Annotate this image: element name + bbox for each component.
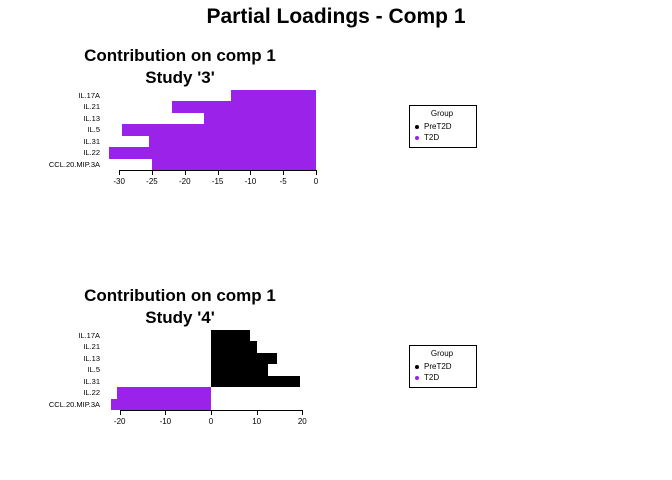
axis-tick-label: 10 xyxy=(252,417,261,426)
bar-row xyxy=(106,124,316,135)
axis-tick xyxy=(119,170,120,175)
legend-dot-icon xyxy=(415,136,419,140)
bar xyxy=(172,101,316,112)
axis-tick xyxy=(302,410,303,415)
axis-tick xyxy=(152,170,153,175)
bar-row xyxy=(106,136,316,147)
plot-2-area: IL.17AIL.21IL.13IL.5IL.31IL.22CCL.20.MIP… xyxy=(0,330,420,470)
plot-2-legend: Group PreT2DT2D xyxy=(409,345,477,388)
bar-row xyxy=(106,90,316,101)
legend-item-label: T2D xyxy=(424,132,439,143)
bar xyxy=(211,364,268,375)
bar-row xyxy=(106,376,316,387)
bar xyxy=(109,147,316,158)
legend-title: Group xyxy=(415,349,469,358)
axis-tick xyxy=(211,410,212,415)
plot-2-title-block: Contribution on comp 1 Study '4' xyxy=(0,285,390,329)
axis-tick-label: -10 xyxy=(160,417,172,426)
axis-tick-label: -20 xyxy=(114,417,126,426)
bar-row xyxy=(106,101,316,112)
axis-tick-label: -25 xyxy=(146,177,158,186)
legend-dot-icon xyxy=(415,365,419,369)
axis-tick xyxy=(316,170,317,175)
plot-1-category-labels: IL.17AIL.21IL.13IL.5IL.31IL.22CCL.20.MIP… xyxy=(0,90,100,170)
axis-tick-label: 0 xyxy=(209,417,213,426)
bar xyxy=(117,387,211,398)
bar-row xyxy=(106,399,316,410)
category-label: IL.17A xyxy=(0,330,100,341)
legend-item-label: PreT2D xyxy=(424,361,452,372)
axis-tick xyxy=(218,170,219,175)
plot-1-subtitle: Study '3' xyxy=(0,67,390,89)
axis-tick xyxy=(250,170,251,175)
axis-tick-label: -10 xyxy=(245,177,257,186)
category-label: CCL.20.MIP.3A xyxy=(0,399,100,410)
bar-row xyxy=(106,364,316,375)
plot-1-title: Contribution on comp 1 xyxy=(84,46,276,65)
bar xyxy=(204,113,316,124)
bar xyxy=(211,376,300,387)
plot-2-title: Contribution on comp 1 xyxy=(84,286,276,305)
category-label: IL.31 xyxy=(0,136,100,147)
plot-2-category-labels: IL.17AIL.21IL.13IL.5IL.31IL.22CCL.20.MIP… xyxy=(0,330,100,410)
category-label: CCL.20.MIP.3A xyxy=(0,159,100,170)
legend-items: PreT2DT2D xyxy=(415,361,469,383)
plot-2-bars xyxy=(106,330,316,410)
category-label: IL.13 xyxy=(0,353,100,364)
axis-tick xyxy=(120,410,121,415)
legend-item-label: T2D xyxy=(424,372,439,383)
category-label: IL.5 xyxy=(0,124,100,135)
bar-row xyxy=(106,341,316,352)
category-label: IL.31 xyxy=(0,376,100,387)
axis-tick-label: -15 xyxy=(212,177,224,186)
bar xyxy=(149,136,316,147)
bar-row xyxy=(106,113,316,124)
category-label: IL.22 xyxy=(0,147,100,158)
legend-dot-icon xyxy=(415,125,419,129)
legend-item[interactable]: T2D xyxy=(415,132,469,143)
plot-1-title-block: Contribution on comp 1 Study '3' xyxy=(0,45,390,89)
bar xyxy=(211,341,257,352)
bar-row xyxy=(106,159,316,170)
bar-row xyxy=(106,330,316,341)
bar xyxy=(122,124,316,135)
bar-row xyxy=(106,387,316,398)
axis-tick xyxy=(165,410,166,415)
axis-tick xyxy=(185,170,186,175)
bar xyxy=(111,399,211,410)
axis-tick xyxy=(257,410,258,415)
axis-tick-label: 20 xyxy=(298,417,307,426)
bar xyxy=(211,353,277,364)
bar-row xyxy=(106,353,316,364)
legend-dot-icon xyxy=(415,376,419,380)
legend-item-label: PreT2D xyxy=(424,121,452,132)
page-title: Partial Loadings - Comp 1 xyxy=(0,5,672,29)
legend-item[interactable]: PreT2D xyxy=(415,121,469,132)
category-label: IL.21 xyxy=(0,341,100,352)
plot-1-bars xyxy=(106,90,316,170)
bar xyxy=(211,330,250,341)
legend-items: PreT2DT2D xyxy=(415,121,469,143)
category-label: IL.21 xyxy=(0,101,100,112)
legend-title: Group xyxy=(415,109,469,118)
legend-item[interactable]: PreT2D xyxy=(415,361,469,372)
axis-tick-label: -5 xyxy=(280,177,287,186)
category-label: IL.5 xyxy=(0,364,100,375)
legend-item[interactable]: T2D xyxy=(415,372,469,383)
bar xyxy=(152,159,316,170)
axis-tick-label: 0 xyxy=(314,177,318,186)
plot-1-legend: Group PreT2DT2D xyxy=(409,105,477,148)
plot-2-subtitle: Study '4' xyxy=(0,307,390,329)
axis-tick xyxy=(283,170,284,175)
category-label: IL.17A xyxy=(0,90,100,101)
bar-row xyxy=(106,147,316,158)
category-label: IL.13 xyxy=(0,113,100,124)
bar xyxy=(231,90,316,101)
category-label: IL.22 xyxy=(0,387,100,398)
plot-1-area: IL.17AIL.21IL.13IL.5IL.31IL.22CCL.20.MIP… xyxy=(0,90,420,230)
axis-tick-label: -20 xyxy=(179,177,191,186)
axis-tick-label: -30 xyxy=(113,177,125,186)
